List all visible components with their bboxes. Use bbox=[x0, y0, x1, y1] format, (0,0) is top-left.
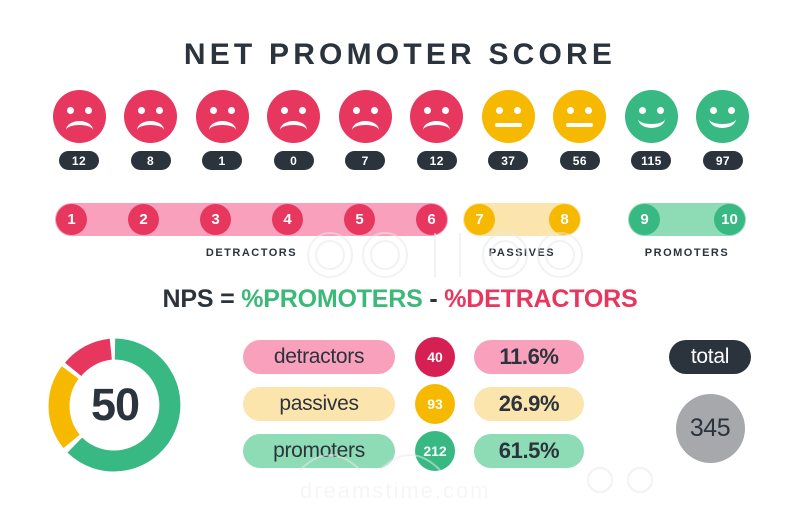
face-cell-6: 12 bbox=[404, 90, 470, 176]
promoters-scale-group: 9 10 PROMOTERS bbox=[628, 203, 746, 259]
legend-row-detractors: detractors 40 11.6% bbox=[243, 340, 584, 374]
detractors-scale-group: 1 2 3 4 5 6 DETRACTORS bbox=[55, 203, 448, 259]
legend-row-promoters: promoters 212 61.5% bbox=[243, 434, 584, 468]
sad-face-icon bbox=[53, 90, 106, 143]
face-count-badge: 56 bbox=[560, 151, 600, 170]
legend-label-promoters: promoters bbox=[243, 434, 395, 468]
scale-dot-6[interactable]: 6 bbox=[416, 204, 447, 235]
svg-text:dreamstime.com: dreamstime.com bbox=[300, 478, 491, 503]
face-count-badge: 1 bbox=[202, 151, 242, 170]
face-cell-8: 56 bbox=[547, 90, 613, 176]
legend-count-detractors: 40 bbox=[415, 337, 455, 377]
total-group: total 345 bbox=[648, 340, 772, 463]
scale-dot-3[interactable]: 3 bbox=[200, 204, 231, 235]
formula-nps: NPS bbox=[163, 285, 214, 313]
page-title: NET PROMOTER SCORE bbox=[0, 38, 800, 72]
face-count-badge: 115 bbox=[631, 151, 671, 170]
face-count-badge: 0 bbox=[274, 151, 314, 170]
passives-scale-bar: 7 8 bbox=[463, 203, 581, 236]
happy-face-icon bbox=[625, 90, 678, 143]
sad-face-icon bbox=[410, 90, 463, 143]
neutral-face-icon bbox=[482, 90, 535, 143]
face-count-badge: 37 bbox=[488, 151, 528, 170]
detractors-scale-bar: 1 2 3 4 5 6 bbox=[55, 203, 448, 236]
scale-dot-2[interactable]: 2 bbox=[128, 204, 159, 235]
legend-count-promoters: 212 bbox=[415, 431, 455, 471]
face-count-badge: 7 bbox=[345, 151, 385, 170]
nps-legend-table: detractors 40 11.6% passives 93 26.9% pr… bbox=[243, 340, 584, 481]
passives-scale-group: 7 8 PASSIVES bbox=[463, 203, 581, 259]
scale-dot-5[interactable]: 5 bbox=[344, 204, 375, 235]
face-cell-7: 37 bbox=[475, 90, 541, 176]
face-count-badge: 12 bbox=[59, 151, 99, 170]
nps-score-value: 50 bbox=[48, 338, 182, 472]
face-cell-10: 97 bbox=[690, 90, 756, 176]
promoters-group-label: PROMOTERS bbox=[628, 247, 746, 259]
scale-dot-9[interactable]: 9 bbox=[629, 204, 660, 235]
face-count-badge: 97 bbox=[703, 151, 743, 170]
legend-label-passives: passives bbox=[243, 387, 395, 421]
happy-face-icon bbox=[696, 90, 749, 143]
legend-count-passives: 93 bbox=[415, 384, 455, 424]
scale-dot-1[interactable]: 1 bbox=[56, 204, 87, 235]
face-count-badge: 12 bbox=[417, 151, 457, 170]
sad-face-icon bbox=[196, 90, 249, 143]
face-cell-5: 7 bbox=[332, 90, 398, 176]
face-cell-2: 8 bbox=[118, 90, 184, 176]
scale-dot-10[interactable]: 10 bbox=[714, 204, 745, 235]
face-cell-4: 0 bbox=[261, 90, 327, 176]
formula-detractors-term: %DETRACTORS bbox=[444, 285, 637, 313]
nps-formula: NPS = %PROMOTERS - %DETRACTORS bbox=[0, 285, 800, 314]
face-cell-9: 115 bbox=[618, 90, 684, 176]
face-cell-1: 12 bbox=[46, 90, 112, 176]
sad-face-icon bbox=[124, 90, 177, 143]
scale-dot-8[interactable]: 8 bbox=[549, 204, 580, 235]
formula-equals: = bbox=[220, 285, 234, 313]
nps-infographic: dreamstime.com NET PROMOTER SCORE 12 8 1 bbox=[0, 0, 800, 514]
scale-dot-7[interactable]: 7 bbox=[464, 204, 495, 235]
legend-row-passives: passives 93 26.9% bbox=[243, 387, 584, 421]
legend-label-detractors: detractors bbox=[243, 340, 395, 374]
formula-promoters-term: %PROMOTERS bbox=[241, 285, 422, 313]
formula-minus: - bbox=[429, 285, 437, 313]
scale-dot-4[interactable]: 4 bbox=[272, 204, 303, 235]
legend-percent-passives: 26.9% bbox=[474, 387, 584, 421]
promoters-scale-bar: 9 10 bbox=[628, 203, 746, 236]
legend-percent-promoters: 61.5% bbox=[474, 434, 584, 468]
total-value: 345 bbox=[676, 394, 745, 463]
face-cell-3: 1 bbox=[189, 90, 255, 176]
total-label: total bbox=[669, 340, 751, 374]
detractors-group-label: DETRACTORS bbox=[55, 247, 448, 259]
sad-face-icon bbox=[267, 90, 320, 143]
sad-face-icon bbox=[339, 90, 392, 143]
legend-percent-detractors: 11.6% bbox=[474, 340, 584, 374]
face-count-badge: 8 bbox=[131, 151, 171, 170]
passives-group-label: PASSIVES bbox=[463, 247, 581, 259]
faces-row: 12 8 1 0 7 bbox=[46, 90, 756, 176]
neutral-face-icon bbox=[553, 90, 606, 143]
